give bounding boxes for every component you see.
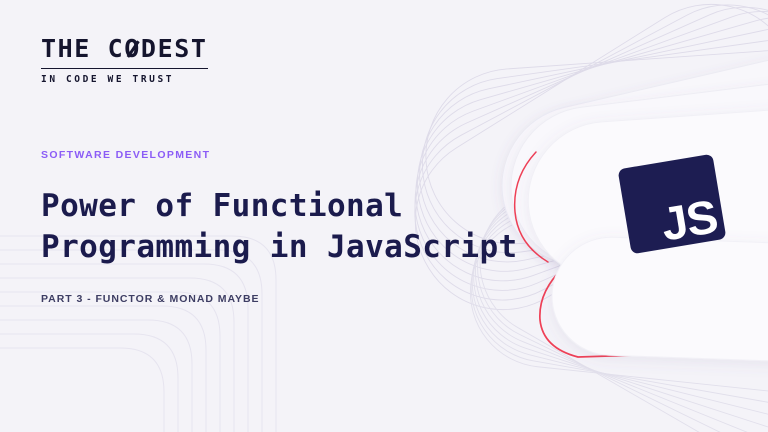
page-subtitle: PART 3 - FUNCTOR & MONAD MAYBE [41,294,511,305]
logo-word-part1: THE C [41,34,124,63]
javascript-logo-icon: JS [618,154,727,255]
accent-stroke-lower [540,268,768,357]
logo-divider-rule [41,68,208,69]
card-lower [550,235,768,367]
logo-tagline: IN CODE WE TRUST [41,75,208,85]
brand-logo[interactable]: THE CODEST IN CODE WE TRUST [41,36,208,85]
hero-text-block: SOFTWARE DEVELOPMENT Power of Functional… [41,150,511,304]
accent-stroke-upper [515,152,548,262]
article-hero-banner: THE CODEST IN CODE WE TRUST SOFTWARE DEV… [0,0,768,432]
ghost-card-back-2 [486,36,768,282]
logo-wordmark: THE CODEST [41,36,208,61]
page-title-line-2: Programming in JavaScript [41,227,511,268]
page-title-line-1: Power of Functional [41,186,511,227]
page-title: Power of Functional Programming in JavaS… [41,186,511,268]
category-eyebrow: SOFTWARE DEVELOPMENT [41,150,511,161]
logo-slashed-zero-icon: O [124,36,141,61]
javascript-logo-label: JS [658,192,720,248]
logo-word-part2: DEST [141,34,208,63]
